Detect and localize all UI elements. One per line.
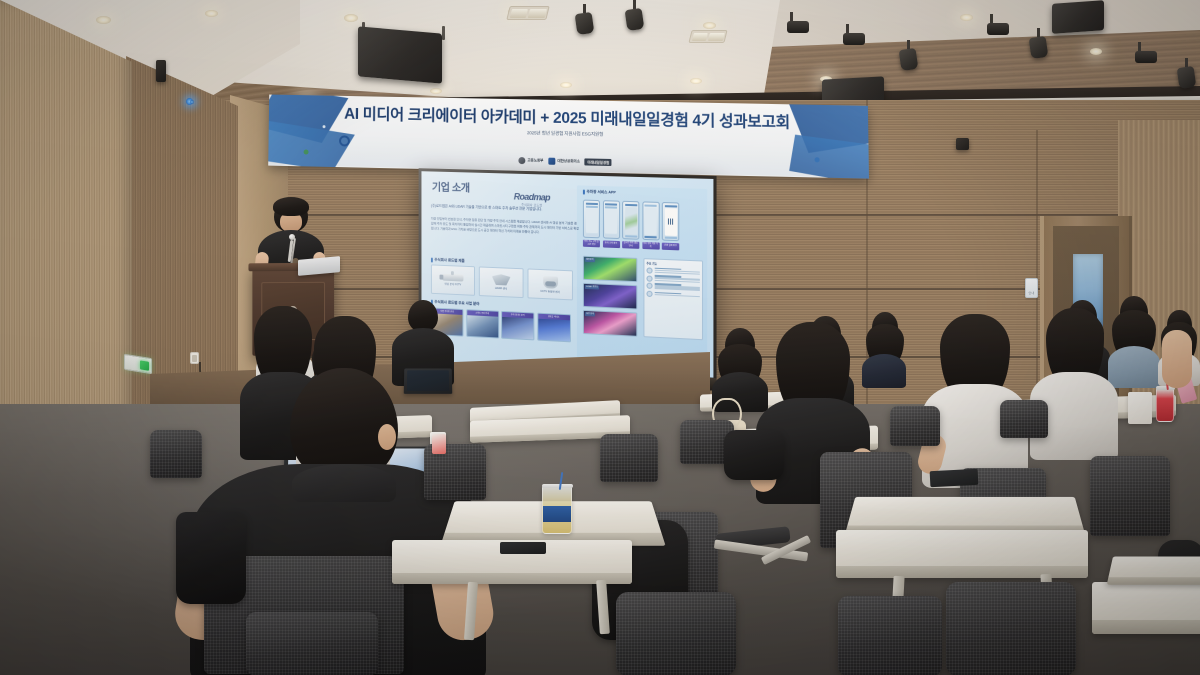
app-caption: 주차 구역 예약 xyxy=(602,240,619,248)
snack-package xyxy=(1128,392,1152,424)
track-spotlight-icon xyxy=(900,40,917,70)
track-spotlight-icon xyxy=(576,4,593,34)
ceiling-downlight-icon xyxy=(960,14,973,21)
cup-label xyxy=(543,506,571,522)
visualization-tag: 동선 분석 xyxy=(585,312,595,316)
feature-icon xyxy=(646,291,652,297)
product-card: LiDAR 센서 xyxy=(479,266,524,298)
use-case-card: 주차 데이터 분석 xyxy=(501,311,534,340)
ceiling-speaker xyxy=(358,26,442,83)
use-case-card: 모바일 서비스 xyxy=(537,313,571,343)
event-banner: AI 미디어 크리에이터 아카데미 + 2025 미래내일일경험 4기 성과보고… xyxy=(268,95,869,179)
product-caption: CCTV 통합형 센서 xyxy=(540,288,559,293)
chair[interactable] xyxy=(600,434,658,482)
use-case-image xyxy=(502,317,533,339)
ceiling-downlight-icon xyxy=(430,88,442,94)
slide-lead-text: (주)로드맵은 AI와 LiDAR 기술을 기반으로 한 스마트 주차 솔루션 … xyxy=(431,204,577,214)
chair[interactable] xyxy=(150,430,202,478)
chair[interactable] xyxy=(890,406,940,446)
use-case-image xyxy=(467,315,498,337)
app-caption: 주차 가능 구역 실시간 확인 xyxy=(583,240,600,248)
speaker-hanger xyxy=(442,26,445,40)
slide-title: 기업 소개 xyxy=(432,179,470,195)
feature-icon xyxy=(646,283,652,289)
track-spotlight-icon xyxy=(1138,42,1141,51)
app-caption: 간편 결제 정산 xyxy=(662,243,679,251)
desk xyxy=(1107,556,1200,584)
visualization-tag: LiDAR 포인트 xyxy=(585,285,599,289)
section-heading-app: 주차장 서비스 APP xyxy=(583,190,616,196)
presenter-hair xyxy=(273,197,309,216)
wall-mounted-speaker xyxy=(156,60,166,82)
ceiling-speaker xyxy=(1052,0,1104,34)
chair[interactable] xyxy=(838,596,942,675)
chair[interactable] xyxy=(946,582,1076,675)
app-screen-mockup xyxy=(662,202,679,241)
section-heading-products: 주식회사 로드맵 제품 xyxy=(431,258,465,264)
attendee-collar xyxy=(292,464,396,502)
desk xyxy=(1092,582,1200,634)
exit-pictogram-icon xyxy=(140,360,149,370)
attendee-arm xyxy=(1162,330,1192,388)
feature-icon xyxy=(646,267,652,273)
slide-body-text: 차량 진입부터 번호판 인식, 주차면 점유 판단 및 차량 추적 안내 시스템… xyxy=(431,216,579,236)
phone-on-desk[interactable] xyxy=(500,542,546,554)
wall-mounted-sensor xyxy=(956,138,969,150)
app-screen-mockup xyxy=(583,200,600,239)
dome-camera-icon xyxy=(543,276,558,289)
backpack xyxy=(176,512,246,604)
banner-logo-row: 고용노동부 대한상공회의소 미래내일일경험 xyxy=(518,157,611,166)
square-downlight-icon xyxy=(506,6,549,20)
ceiling-downlight-icon xyxy=(344,14,358,22)
iced-drink-cup xyxy=(1156,388,1174,422)
ceiling-downlight-icon xyxy=(560,82,572,88)
chamber-mark-icon xyxy=(548,158,555,165)
app-caption: 주차 위치 자동 기록 xyxy=(642,242,659,250)
feature-list-item xyxy=(646,291,699,300)
lidar-sensor-icon xyxy=(492,274,510,286)
banner-decor-dot xyxy=(814,157,819,162)
cup-lid xyxy=(542,484,573,488)
use-case-card: 스마트 주차 안내 xyxy=(466,309,499,338)
status-led-indicator xyxy=(190,100,194,104)
app-screen-mockup xyxy=(642,201,659,240)
visualization-card: LiDAR 포인트 xyxy=(583,283,637,310)
app-screen-mockup xyxy=(622,201,639,240)
chair[interactable] xyxy=(616,592,736,675)
desk xyxy=(836,530,1088,578)
chair[interactable] xyxy=(1000,400,1048,438)
microphone-head-icon xyxy=(289,234,295,240)
track-spotlight-icon xyxy=(1030,28,1047,58)
ceiling-downlight-icon xyxy=(205,10,218,17)
logo-label: 미래내일일경험 xyxy=(585,158,612,166)
app-screen-mockup xyxy=(602,200,619,239)
use-case-image xyxy=(538,319,570,342)
logo-korcham: 대한상공회의소 xyxy=(548,158,579,166)
track-spotlight-icon xyxy=(1178,58,1195,88)
track-spotlight-icon xyxy=(990,14,993,23)
banner-decor-dot xyxy=(304,149,309,154)
feature-icon xyxy=(646,275,652,281)
product-caption: LiDAR 센서 xyxy=(495,286,507,291)
logo-label: 대한상공회의소 xyxy=(557,159,579,164)
mouse-pad xyxy=(930,469,979,487)
chair[interactable] xyxy=(1090,456,1170,536)
projection-screen: 기업 소개 Roadmap 주식회사 로드맵 (주)로드맵은 AI와 LiDAR… xyxy=(419,168,717,381)
iced-drink-cup xyxy=(542,486,572,534)
seminar-room-photo: 안내 AI 미디어 크리에이터 아카데미 + 2025 미래내일일경험 4기 성… xyxy=(0,0,1200,675)
wall-sign-label: 안내 xyxy=(1029,291,1035,295)
app-mockup-row xyxy=(583,200,679,242)
ceiling-downlight-icon xyxy=(1090,48,1102,55)
track-spotlight-icon xyxy=(626,0,643,30)
wall-sign: 안내 xyxy=(1025,278,1038,298)
chair[interactable] xyxy=(246,612,378,675)
attendee-ear xyxy=(378,424,396,450)
ceiling-downlight-icon xyxy=(96,16,111,24)
logo-moel: 고용노동부 xyxy=(518,157,543,165)
app-caption: 실시간 주차 경로 안내 xyxy=(622,241,639,249)
feature-list-item xyxy=(646,267,699,276)
product-card: 영상 분석 CCTV xyxy=(431,264,475,295)
snack-package xyxy=(432,434,446,454)
ceiling-downlight-icon xyxy=(690,78,702,84)
banner-decor-ring xyxy=(339,135,350,146)
government-seal-icon xyxy=(518,157,525,164)
company-logo-text: Roadmap xyxy=(514,192,550,203)
backpack xyxy=(724,430,784,480)
track-spotlight-icon xyxy=(846,24,849,33)
wall-power-outlet[interactable] xyxy=(190,352,199,364)
ceiling-downlight-icon xyxy=(703,22,716,29)
product-card: CCTV 통합형 센서 xyxy=(527,268,572,300)
visualization-tag: 점유분석 xyxy=(585,258,595,262)
banner-title-left: AI 미디어 크리에이터 아카데미 + xyxy=(344,106,549,127)
product-caption: 영상 분석 CCTV xyxy=(445,282,462,287)
feature-list-panel: 주요 기능 xyxy=(643,258,703,340)
visualization-card: 점유분석 xyxy=(583,256,637,282)
banner-title-right: 2025 미래내일일경험 4기 성과보고회 xyxy=(553,110,790,132)
product-card-row: 영상 분석 CCTV LiDAR 센서 CCTV 통합형 센서 xyxy=(431,264,573,300)
visualization-card: 동선 분석 xyxy=(583,310,637,337)
presentation-slide: 기업 소개 Roadmap 주식회사 로드맵 (주)로드맵은 AI와 LiDAR… xyxy=(421,171,713,377)
track-spotlight-icon xyxy=(790,12,793,21)
company-logo: Roadmap 주식회사 로드맵 xyxy=(514,192,550,208)
cctv-camera-icon xyxy=(442,274,463,282)
logo-label: 고용노동부 xyxy=(527,158,543,163)
square-downlight-icon xyxy=(688,30,727,43)
